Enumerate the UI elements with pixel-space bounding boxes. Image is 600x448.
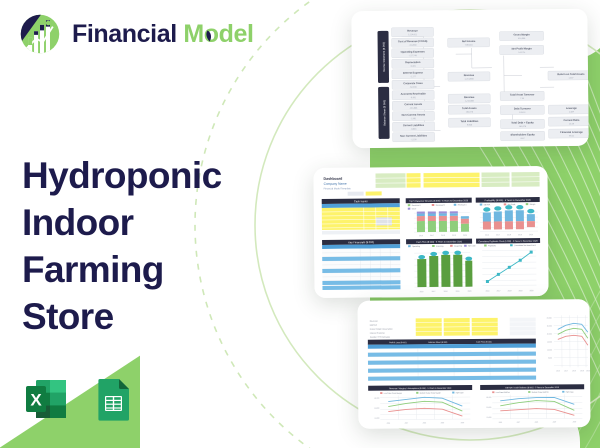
- svg-text:2019: 2019: [518, 234, 522, 236]
- svg-text:99.21: 99.21: [569, 135, 575, 137]
- financial-model-circle-bars-logo: [18, 12, 62, 56]
- svg-text:Net Profit Margin: Net Profit Margin: [512, 47, 533, 50]
- svg-text:2016: 2016: [556, 370, 560, 372]
- svg-text:Interest Expense: Interest Expense: [370, 332, 386, 335]
- svg-text:Revenue C: Revenue C: [458, 204, 468, 206]
- svg-text:Net Income: Net Income: [462, 40, 476, 43]
- svg-text:-2,391: -2,391: [411, 118, 418, 120]
- svg-text:-2,177: -2,177: [410, 76, 417, 78]
- svg-text:-217,748: -217,748: [409, 55, 418, 57]
- svg-text:Top 5 Revenue Streams ($ 000): Top 5 Revenue Streams ($ 000) - 5 Years …: [409, 199, 469, 203]
- svg-text:Cumulative Net Investment: Cumulative Net Investment: [514, 244, 536, 247]
- reports-card[interactable]: Revenue EBITDA Gross Margin Assumption I…: [358, 299, 591, 429]
- svg-text:Profit & Loss ($ 000): Profit & Loss ($ 000): [389, 341, 407, 344]
- svg-text:-5,381: -5,381: [410, 66, 417, 68]
- svg-text:Corporate Taxes: Corporate Taxes: [403, 82, 423, 85]
- svg-text:Company Name: Company Name: [324, 182, 347, 186]
- svg-text:2020: 2020: [586, 370, 590, 372]
- svg-text:2.484: 2.484: [569, 111, 575, 113]
- svg-text:10,000: 10,000: [374, 418, 379, 420]
- svg-text:2017: 2017: [496, 234, 500, 236]
- svg-text:Revenue: Revenue: [464, 74, 475, 77]
- svg-text:Debt Turnover: Debt Turnover: [514, 107, 531, 110]
- svg-text:Total Debt + Equity: Total Debt + Equity: [511, 121, 534, 124]
- svg-text:2018: 2018: [423, 422, 427, 424]
- svg-text:Financial Leverage: Financial Leverage: [560, 131, 583, 134]
- svg-text:Cash Flow ($ 000) - 5 Years to: Cash Flow ($ 000) - 5 Years to December …: [416, 240, 463, 243]
- svg-text:Non-Current Assets: Non-Current Assets: [402, 113, 426, 116]
- dashboard-card[interactable]: Dashboard Company Name Financial Model T…: [313, 166, 548, 298]
- svg-text:14.59: 14.59: [569, 123, 575, 125]
- svg-text:40,000: 40,000: [547, 333, 552, 335]
- svg-text:Non-Current Liabilities: Non-Current Liabilities: [400, 134, 428, 137]
- svg-text:Income Statement ($ 000): Income Statement ($ 000): [382, 42, 386, 72]
- svg-text:2019: 2019: [580, 370, 584, 372]
- svg-text:2019: 2019: [519, 290, 523, 292]
- svg-text:50,000: 50,000: [486, 407, 491, 409]
- svg-text:2018: 2018: [572, 370, 576, 372]
- svg-text:2017: 2017: [517, 422, 521, 424]
- svg-text:5,000: 5,000: [548, 357, 552, 359]
- svg-text:Net Cash: Net Cash: [468, 244, 476, 247]
- svg-text:X: X: [30, 391, 42, 410]
- svg-text:Interest Expense: Interest Expense: [403, 71, 424, 74]
- headline-line-3: Farming: [22, 249, 164, 290]
- svg-text:Gross Margin: Gross Margin: [513, 33, 530, 36]
- svg-text:2016: 2016: [485, 234, 489, 236]
- svg-text:Total Liabilities: Total Liabilities: [460, 120, 479, 123]
- headline-line-1: Hydroponic: [22, 155, 222, 196]
- svg-text:60,000: 60,000: [547, 325, 552, 327]
- svg-text:2019: 2019: [441, 422, 445, 424]
- svg-text:2020: 2020: [468, 291, 472, 293]
- svg-text:2016: 2016: [499, 422, 503, 424]
- svg-text:-9,991: -9,991: [410, 97, 417, 99]
- brand-logo[interactable]: Financial Model: [18, 12, 254, 56]
- svg-text:Current Liabilities: Current Liabilities: [403, 124, 425, 127]
- svg-text:Medium Case Gross Margin: Medium Case Gross Margin: [420, 391, 441, 394]
- svg-text:14.17%: 14.17%: [518, 52, 525, 54]
- svg-text:9,968: 9,968: [467, 124, 473, 126]
- svg-text:80,000: 80,000: [547, 317, 552, 319]
- svg-text:Cumulative Paybacks Chart ($ 0: Cumulative Paybacks Chart ($ 000) - 5 Ye…: [478, 240, 538, 244]
- svg-text:129.14: 129.14: [519, 112, 526, 114]
- svg-text:Paybacks: Paybacks: [488, 245, 496, 247]
- svg-text:Leverage: Leverage: [566, 107, 578, 110]
- svg-text:EBITDA: EBITDA: [370, 324, 378, 327]
- svg-text:80,000: 80,000: [486, 397, 491, 399]
- svg-text:Gross Margin Assumption: Gross Margin Assumption: [370, 328, 393, 331]
- svg-text:-144,866: -144,866: [409, 108, 418, 110]
- svg-text:Revenue: Revenue: [407, 30, 418, 33]
- svg-text:2017: 2017: [432, 291, 436, 293]
- svg-text:2020: 2020: [573, 421, 577, 423]
- svg-text:Total Asset Turnover: Total Asset Turnover: [510, 93, 535, 96]
- svg-text:2020: 2020: [529, 234, 533, 236]
- svg-text:Revenue B: Revenue B: [436, 205, 446, 207]
- svg-text:414,056: 414,056: [518, 38, 526, 40]
- svg-text:2016: 2016: [420, 291, 424, 293]
- dupont-tree-thumbnail: Income Statement ($ 000) Balance Sheet (…: [351, 9, 588, 148]
- svg-text:2017: 2017: [497, 290, 501, 292]
- svg-text:2016: 2016: [486, 290, 490, 292]
- dupont-analysis-card[interactable]: Income Statement ($ 000) Balance Sheet (…: [351, 9, 588, 148]
- svg-text:Operating: Operating: [412, 245, 420, 248]
- svg-text:2016: 2016: [419, 235, 423, 237]
- brand-wordmark: Financial Model: [72, 22, 254, 47]
- svg-text:Dashboard: Dashboard: [324, 177, 343, 181]
- brand-word-financial: Financial: [72, 20, 177, 48]
- microsoft-excel-icon[interactable]: X: [22, 375, 70, 423]
- svg-text:2017: 2017: [564, 370, 568, 372]
- svg-text:162,076: 162,076: [466, 111, 474, 113]
- svg-text:2020: 2020: [463, 235, 467, 237]
- svg-text:2019: 2019: [452, 235, 456, 237]
- svg-text:1,214,888: 1,214,888: [465, 78, 475, 80]
- svg-text:2019: 2019: [456, 291, 460, 293]
- svg-text:Current Assets: Current Assets: [404, 103, 422, 106]
- svg-text:Operating Expenses: Operating Expenses: [401, 50, 426, 53]
- svg-text:Revenue: Revenue: [370, 321, 379, 323]
- page-title: Hydroponic Indoor Farming Store: [22, 153, 272, 341]
- svg-text:10,000: 10,000: [547, 349, 552, 351]
- svg-text:Revenue A: Revenue A: [412, 204, 422, 207]
- svg-text:-2,100: -2,100: [411, 139, 418, 141]
- svg-text:Accounts Receivable: Accounts Receivable: [401, 92, 427, 95]
- svg-text:Financing: Financing: [454, 246, 462, 248]
- svg-text:1.037: 1.037: [568, 77, 574, 79]
- svg-text:20,000: 20,000: [547, 341, 552, 343]
- svg-text:2020: 2020: [461, 422, 465, 424]
- svg-text:High Case: High Case: [566, 392, 574, 394]
- poster-canvas: Financial Model Hydroponic Indoor Farmin…: [0, 0, 600, 448]
- svg-text:2020: 2020: [530, 290, 534, 292]
- headline-line-4: Store: [22, 296, 114, 337]
- svg-text:Balance Sheet ($ 000): Balance Sheet ($ 000): [382, 100, 386, 126]
- svg-text:2018: 2018: [444, 291, 448, 293]
- svg-text:Other: Other: [412, 207, 417, 210]
- svg-text:1,214,888: 1,214,888: [465, 100, 475, 102]
- svg-text:EBITDA / Cash Balance ($ 000): EBITDA / Cash Balance ($ 000) - 5 Years …: [505, 386, 559, 389]
- svg-text:Total Assets: Total Assets: [462, 107, 477, 110]
- leaf-icon: [183, 22, 253, 52]
- svg-text:Cash Flow ($ 000): Cash Flow ($ 000): [476, 341, 492, 343]
- svg-text:Balance Sheet ($ 000): Balance Sheet ($ 000): [428, 341, 447, 344]
- svg-text:2018: 2018: [507, 234, 511, 236]
- svg-text:Low Case EBITDA: Low Case EBITDA: [496, 391, 511, 394]
- svg-text:Cost of Revenue (COGS): Cost of Revenue (COGS): [398, 40, 428, 43]
- svg-text:-411,880: -411,880: [409, 45, 418, 47]
- svg-text:2017: 2017: [430, 235, 434, 237]
- svg-text:Depreciation: Depreciation: [405, 61, 421, 64]
- svg-text:10,000: 10,000: [486, 417, 491, 419]
- svg-text:Key Financials ($ 000): Key Financials ($ 000): [348, 240, 374, 244]
- svg-text:80,000: 80,000: [374, 398, 379, 400]
- svg-text:2016: 2016: [387, 423, 391, 425]
- svg-text:-180,031: -180,031: [465, 44, 474, 46]
- svg-text:2018: 2018: [441, 235, 445, 237]
- svg-text:1,214,821: 1,214,821: [408, 34, 418, 36]
- headline-line-2: Indoor: [22, 202, 133, 243]
- svg-text:2019: 2019: [553, 421, 557, 423]
- svg-text:2017: 2017: [405, 422, 409, 424]
- svg-text:Shareholders Equity: Shareholders Equity: [510, 133, 535, 136]
- svg-text:Profitability ($ 000) - 5 Year: Profitability ($ 000) - 5 Years to Decem…: [485, 199, 532, 202]
- svg-text:Revenue: Revenue: [464, 96, 475, 99]
- dashboard-thumbnail: Dashboard Company Name Financial Model T…: [313, 166, 548, 298]
- svg-text:Cash Inputs: Cash Inputs: [354, 199, 369, 203]
- svg-text:High Case: High Case: [456, 392, 464, 394]
- svg-text:Margin: Margin: [530, 204, 536, 206]
- reports-thumbnail: Revenue EBITDA Gross Margin Assumption I…: [358, 299, 591, 429]
- google-sheets-icon[interactable]: [88, 375, 136, 423]
- svg-text:Number Of Employees: Number Of Employees: [370, 337, 390, 339]
- svg-text:Return on Total Assets: Return on Total Assets: [557, 73, 585, 76]
- svg-text:Revenue / Margins / Assumption: Revenue / Margins / Assumptions ($ 000) …: [389, 387, 452, 390]
- svg-text:EBITDA: EBITDA: [484, 203, 491, 206]
- svg-text:Investing: Investing: [436, 245, 443, 248]
- svg-text:162,076: 162,076: [519, 126, 527, 128]
- file-format-icons: X: [22, 375, 136, 423]
- svg-text:-9,993: -9,993: [411, 129, 418, 131]
- svg-text:50,000: 50,000: [374, 408, 379, 410]
- svg-text:2018: 2018: [508, 290, 512, 292]
- svg-text:Financial Model Template: Financial Model Template: [324, 187, 352, 190]
- svg-text:Medium Case EBITDA: Medium Case EBITDA: [532, 391, 550, 394]
- svg-text:2018: 2018: [535, 422, 539, 424]
- svg-text:Current Ratio: Current Ratio: [563, 119, 579, 122]
- svg-text:Low Case Gross Margin: Low Case Gross Margin: [384, 392, 402, 395]
- svg-text:-62,039: -62,039: [410, 87, 418, 89]
